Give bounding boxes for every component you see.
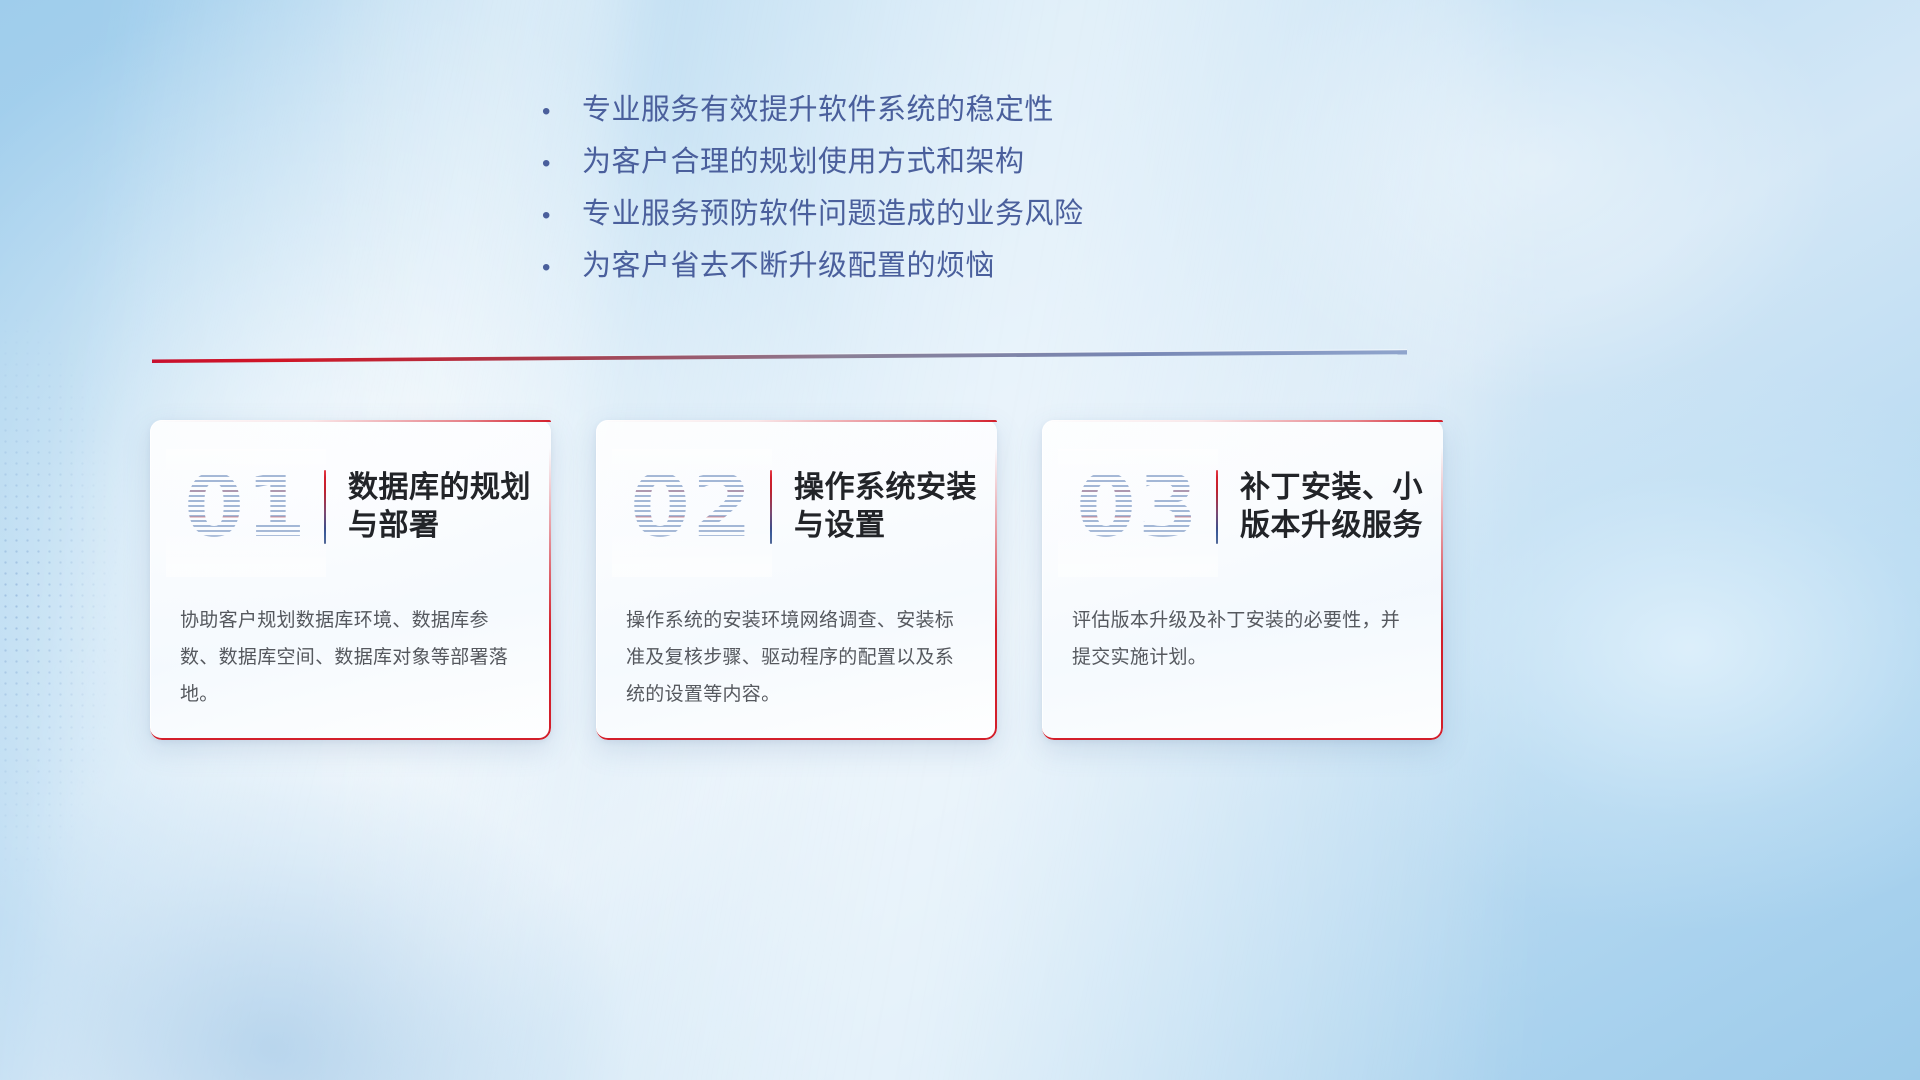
bullet-text: 为客户合理的规划使用方式和架构 <box>582 138 1025 180</box>
bullet-marker-icon: • <box>536 100 582 124</box>
bullet-text: 为客户省去不断升级配置的烦恼 <box>582 242 995 284</box>
card-number-glyph-red-tint: 03 <box>1064 455 1212 559</box>
service-card[interactable]: 01 01 数据库的规划与部署 协助客户规划数据库环境、数据库参数、数据库空间、… <box>150 420 551 740</box>
service-card[interactable]: 03 03 补丁安装、小版本升级服务 评估版本升级及补丁安装的必要性，并提交实施… <box>1042 420 1443 740</box>
card-number-glyph-red-tint: 02 <box>618 455 766 559</box>
list-item: • 专业服务预防软件问题造成的业务风险 <box>536 190 1356 242</box>
service-card[interactable]: 02 02 操作系统安装与设置 操作系统的安装环境网络调查、安装标准及复核步骤、… <box>596 420 997 740</box>
card-divider-bar <box>1216 470 1218 544</box>
bullet-marker-icon: • <box>536 204 582 228</box>
card-number-watermark: 01 01 <box>172 455 320 559</box>
bullet-text: 专业服务有效提升软件系统的稳定性 <box>582 86 1054 128</box>
card-title: 数据库的规划与部署 <box>348 469 538 546</box>
bullet-text: 专业服务预防软件问题造成的业务风险 <box>582 190 1084 232</box>
card-title: 操作系统安装与设置 <box>794 469 984 546</box>
bullet-marker-icon: • <box>536 152 582 176</box>
service-card-row: 01 01 数据库的规划与部署 协助客户规划数据库环境、数据库参数、数据库空间、… <box>150 420 1443 740</box>
card-number-glyph-red-tint: 01 <box>172 455 320 559</box>
card-body-text: 协助客户规划数据库环境、数据库参数、数据库空间、数据库对象等部署落地。 <box>180 602 521 713</box>
card-divider-bar <box>324 470 326 544</box>
card-number-watermark: 03 03 <box>1064 455 1212 559</box>
decorative-divider <box>152 348 1407 364</box>
card-header: 02 02 操作系统安装与设置 <box>596 420 997 570</box>
list-item: • 专业服务有效提升软件系统的稳定性 <box>536 86 1356 138</box>
card-header: 03 03 补丁安装、小版本升级服务 <box>1042 420 1443 570</box>
bullet-marker-icon: • <box>536 256 582 280</box>
card-header: 01 01 数据库的规划与部署 <box>150 420 551 570</box>
card-body-text: 操作系统的安装环境网络调查、安装标准及复核步骤、驱动程序的配置以及系统的设置等内… <box>626 602 967 713</box>
card-body-text: 评估版本升级及补丁安装的必要性，并提交实施计划。 <box>1072 602 1413 676</box>
card-title: 补丁安装、小版本升级服务 <box>1240 469 1430 546</box>
list-item: • 为客户省去不断升级配置的烦恼 <box>536 242 1356 294</box>
list-item: • 为客户合理的规划使用方式和架构 <box>536 138 1356 190</box>
card-number-watermark: 02 02 <box>618 455 766 559</box>
card-divider-bar <box>770 470 772 544</box>
benefits-bullet-list: • 专业服务有效提升软件系统的稳定性 • 为客户合理的规划使用方式和架构 • 专… <box>536 86 1356 294</box>
divider-shape-icon <box>152 348 1407 364</box>
